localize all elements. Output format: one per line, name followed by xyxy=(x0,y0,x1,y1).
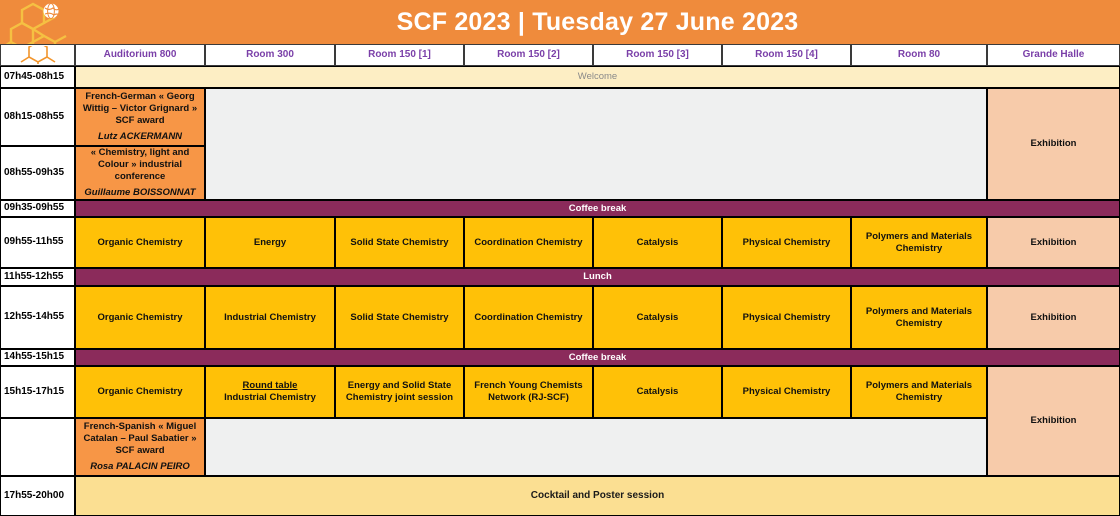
time-slot-1515-1715: 15h15-17h15 xyxy=(0,366,75,418)
session-title: Solid State Chemistry xyxy=(350,312,448,324)
welcome-label: Welcome xyxy=(578,71,617,83)
time-label: 09h55-11h55 xyxy=(4,236,64,249)
exhibition-afternoon[interactable]: Exhibition xyxy=(987,286,1120,349)
column-header-room-80: Room 80 xyxy=(851,44,987,66)
session-title: Catalysis xyxy=(637,312,679,324)
column-header-label: Room 150 [2] xyxy=(497,49,560,62)
time-label: 17h55-20h00 xyxy=(4,490,64,503)
session-afternoon-auditorium[interactable]: Organic Chemistry xyxy=(75,286,205,349)
session-speaker: Lutz ACKERMANN xyxy=(98,131,182,143)
time-slot-1455-1515: 14h55-15h15 xyxy=(0,349,75,366)
time-label: 07h45-08h15 xyxy=(4,71,64,84)
session-title: Organic Chemistry xyxy=(98,237,183,249)
session-morning-room-80[interactable]: Polymers and Materials Chemistry xyxy=(851,217,987,268)
exhibition-late[interactable]: Exhibition xyxy=(987,366,1120,476)
session-morning-auditorium[interactable]: Organic Chemistry xyxy=(75,217,205,268)
session-afternoon-room-150-4[interactable]: Physical Chemistry xyxy=(722,286,851,349)
column-header-label: Room 150 [4] xyxy=(755,49,818,62)
session-title: Coordination Chemistry xyxy=(474,237,582,249)
session-morning-room-150-2[interactable]: Coordination Chemistry xyxy=(464,217,593,268)
session-late-room-80[interactable]: Polymers and Materials Chemistry xyxy=(851,366,987,418)
time-slot-blank xyxy=(0,418,75,476)
time-slot-1755-2000: 17h55-20h00 xyxy=(0,476,75,516)
session-subtitle: Industrial Chemistry xyxy=(224,392,316,404)
empty-slot-late xyxy=(205,418,987,476)
exhibition-morning[interactable]: Exhibition xyxy=(987,217,1120,268)
session-late-room-150-2[interactable]: French Young Chemists Network (RJ-SCF) xyxy=(464,366,593,418)
session-industrial-conference[interactable]: « Chemistry, light and Colour » industri… xyxy=(75,146,205,200)
molecule-icon xyxy=(15,46,61,64)
exhibition-label: Exhibition xyxy=(1031,138,1077,150)
session-title: Solid State Chemistry xyxy=(350,237,448,249)
time-label: 08h55-09h35 xyxy=(4,167,64,180)
session-title: Catalysis xyxy=(637,386,679,398)
exhibition-morning-early[interactable]: Exhibition xyxy=(987,88,1120,200)
time-slot-1255-1455: 12h55-14h55 xyxy=(0,286,75,349)
time-label: 14h55-15h15 xyxy=(4,351,64,364)
session-afternoon-room-150-3[interactable]: Catalysis xyxy=(593,286,722,349)
time-slot-0745-0815: 07h45-08h15 xyxy=(0,66,75,88)
session-title: Energy xyxy=(254,237,286,249)
session-title: Physical Chemistry xyxy=(743,386,831,398)
session-title: French Young Chemists Network (RJ-SCF) xyxy=(465,380,592,404)
session-title: Physical Chemistry xyxy=(743,312,831,324)
session-title: Polymers and Materials Chemistry xyxy=(852,380,986,404)
session-late-auditorium[interactable]: Organic Chemistry xyxy=(75,366,205,418)
welcome-row: Welcome xyxy=(75,66,1120,88)
schedule-page: SCF 2023 | Tuesday 27 June 2023 Auditori… xyxy=(0,0,1120,516)
coffee-break-row-2: Coffee break xyxy=(75,349,1120,366)
session-late-room-300[interactable]: Round table Industrial Chemistry xyxy=(205,366,335,418)
session-title: « Chemistry, light and Colour » industri… xyxy=(79,147,201,183)
session-late-room-150-3[interactable]: Catalysis xyxy=(593,366,722,418)
cocktail-label: Cocktail and Poster session xyxy=(531,490,664,503)
session-afternoon-room-80[interactable]: Polymers and Materials Chemistry xyxy=(851,286,987,349)
lunch-label: Lunch xyxy=(583,271,612,283)
column-header-label: Auditorium 800 xyxy=(104,49,177,62)
session-title: Energy and Solid State Chemistry joint s… xyxy=(336,380,463,404)
session-late-room-150-1[interactable]: Energy and Solid State Chemistry joint s… xyxy=(335,366,464,418)
session-catalan-award[interactable]: French-Spanish « Miguel Catalan – Paul S… xyxy=(75,418,205,476)
time-slot-0955-1155: 09h55-11h55 xyxy=(0,217,75,268)
session-afternoon-room-150-2[interactable]: Coordination Chemistry xyxy=(464,286,593,349)
exhibition-label: Exhibition xyxy=(1031,312,1077,324)
session-title: Industrial Chemistry xyxy=(224,312,316,324)
session-afternoon-room-300[interactable]: Industrial Chemistry xyxy=(205,286,335,349)
session-late-room-150-4[interactable]: Physical Chemistry xyxy=(722,366,851,418)
session-speaker: Guillaume BOISSONNAT xyxy=(84,187,195,199)
column-header-grande-halle: Grande Halle xyxy=(987,44,1120,66)
column-header-label: Room 150 [3] xyxy=(626,49,689,62)
session-speaker: Rosa PALACIN PEIRO xyxy=(90,461,190,473)
time-slot-1155-1255: 11h55-12h55 xyxy=(0,268,75,286)
lunch-row: Lunch xyxy=(75,268,1120,286)
session-morning-room-150-1[interactable]: Solid State Chemistry xyxy=(335,217,464,268)
time-label: 12h55-14h55 xyxy=(4,311,64,324)
session-title: Organic Chemistry xyxy=(98,386,183,398)
coffee-break-label: Coffee break xyxy=(569,352,627,364)
session-morning-room-150-4[interactable]: Physical Chemistry xyxy=(722,217,851,268)
session-afternoon-room-150-1[interactable]: Solid State Chemistry xyxy=(335,286,464,349)
column-header-room-150-3: Room 150 [3] xyxy=(593,44,722,66)
cocktail-poster-row: Cocktail and Poster session xyxy=(75,476,1120,516)
column-header-room-150-4: Room 150 [4] xyxy=(722,44,851,66)
corner-logo-cell xyxy=(0,44,75,66)
exhibition-label: Exhibition xyxy=(1031,237,1077,249)
column-header-room-150-1: Room 150 [1] xyxy=(335,44,464,66)
session-title: Organic Chemistry xyxy=(98,312,183,324)
session-title: Polymers and Materials Chemistry xyxy=(852,231,986,255)
session-morning-room-300[interactable]: Energy xyxy=(205,217,335,268)
time-label: 09h35-09h55 xyxy=(4,202,64,215)
session-title: Coordination Chemistry xyxy=(474,312,582,324)
column-header-label: Grande Halle xyxy=(1023,49,1085,62)
column-header-label: Room 80 xyxy=(898,49,940,62)
coffee-break-row-1: Coffee break xyxy=(75,200,1120,217)
column-header-label: Room 150 [1] xyxy=(368,49,431,62)
time-slot-0855-0935: 08h55-09h35 xyxy=(0,146,75,200)
session-title: French-Spanish « Miguel Catalan – Paul S… xyxy=(79,421,201,457)
empty-slot-morning xyxy=(205,88,987,200)
session-morning-room-150-3[interactable]: Catalysis xyxy=(593,217,722,268)
page-title: SCF 2023 | Tuesday 27 June 2023 xyxy=(75,0,1120,44)
coffee-break-label: Coffee break xyxy=(569,203,627,215)
column-header-room-150-2: Room 150 [2] xyxy=(464,44,593,66)
session-title: Polymers and Materials Chemistry xyxy=(852,306,986,330)
session-title: French-German « Georg Wittig – Victor Gr… xyxy=(79,91,201,127)
exhibition-label: Exhibition xyxy=(1031,415,1077,427)
session-title: Catalysis xyxy=(637,237,679,249)
column-header-label: Room 300 xyxy=(246,49,294,62)
column-header-auditorium-800: Auditorium 800 xyxy=(75,44,205,66)
time-label: 08h15-08h55 xyxy=(4,111,64,124)
column-header-room-300: Room 300 xyxy=(205,44,335,66)
time-slot-0935-0955: 09h35-09h55 xyxy=(0,200,75,217)
session-wittig-award[interactable]: French-German « Georg Wittig – Victor Gr… xyxy=(75,88,205,146)
time-slot-0815-0855: 08h15-08h55 xyxy=(0,88,75,146)
session-title: Round table xyxy=(243,380,298,392)
globe-icon xyxy=(44,4,60,19)
time-label: 15h15-17h15 xyxy=(4,386,64,399)
session-title: Physical Chemistry xyxy=(743,237,831,249)
time-label: 11h55-12h55 xyxy=(4,271,64,284)
